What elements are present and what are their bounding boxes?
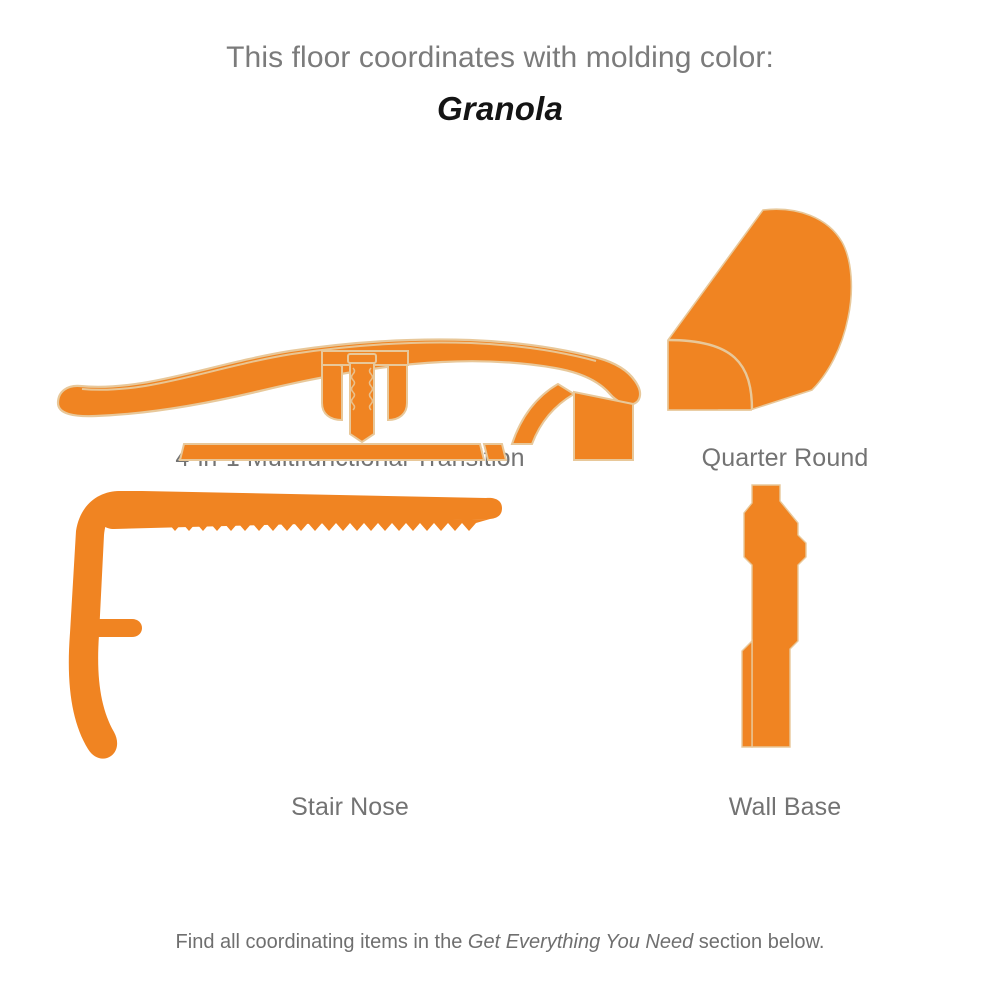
molding-color-name: Granola (0, 88, 1000, 130)
footer-emphasis: Get Everything You Need (468, 931, 693, 953)
wall-base-profile-icon (630, 473, 940, 763)
footer-note: Find all coordinating items in the Get E… (0, 928, 1000, 956)
molding-label-stair-nose: Stair Nose (50, 791, 650, 823)
molding-item-quarter-round[interactable]: Quarter Round (630, 188, 940, 474)
footer-suffix: section below. (693, 931, 824, 953)
footer-prefix: Find all coordinating items in the (176, 931, 468, 953)
molding-label-quarter-round: Quarter Round (630, 442, 940, 474)
molding-label-wall-base: Wall Base (630, 791, 940, 823)
quarter-round-icon (630, 188, 940, 428)
molding-coordination-panel: This floor coordinates with molding colo… (0, 0, 1000, 1000)
page-title: This floor coordinates with molding colo… (0, 38, 1000, 78)
header: This floor coordinates with molding colo… (0, 38, 1000, 130)
molding-item-stair-nose[interactable]: Stair Nose (50, 473, 650, 823)
transition-profile-icon (50, 188, 650, 428)
molding-item-wall-base[interactable]: Wall Base (630, 473, 940, 823)
stair-nose-profile-icon (50, 473, 650, 763)
molding-grid: 4-in-1 Multifunctional Transition (0, 168, 1000, 868)
molding-item-transition[interactable]: 4-in-1 Multifunctional Transition (50, 188, 650, 474)
